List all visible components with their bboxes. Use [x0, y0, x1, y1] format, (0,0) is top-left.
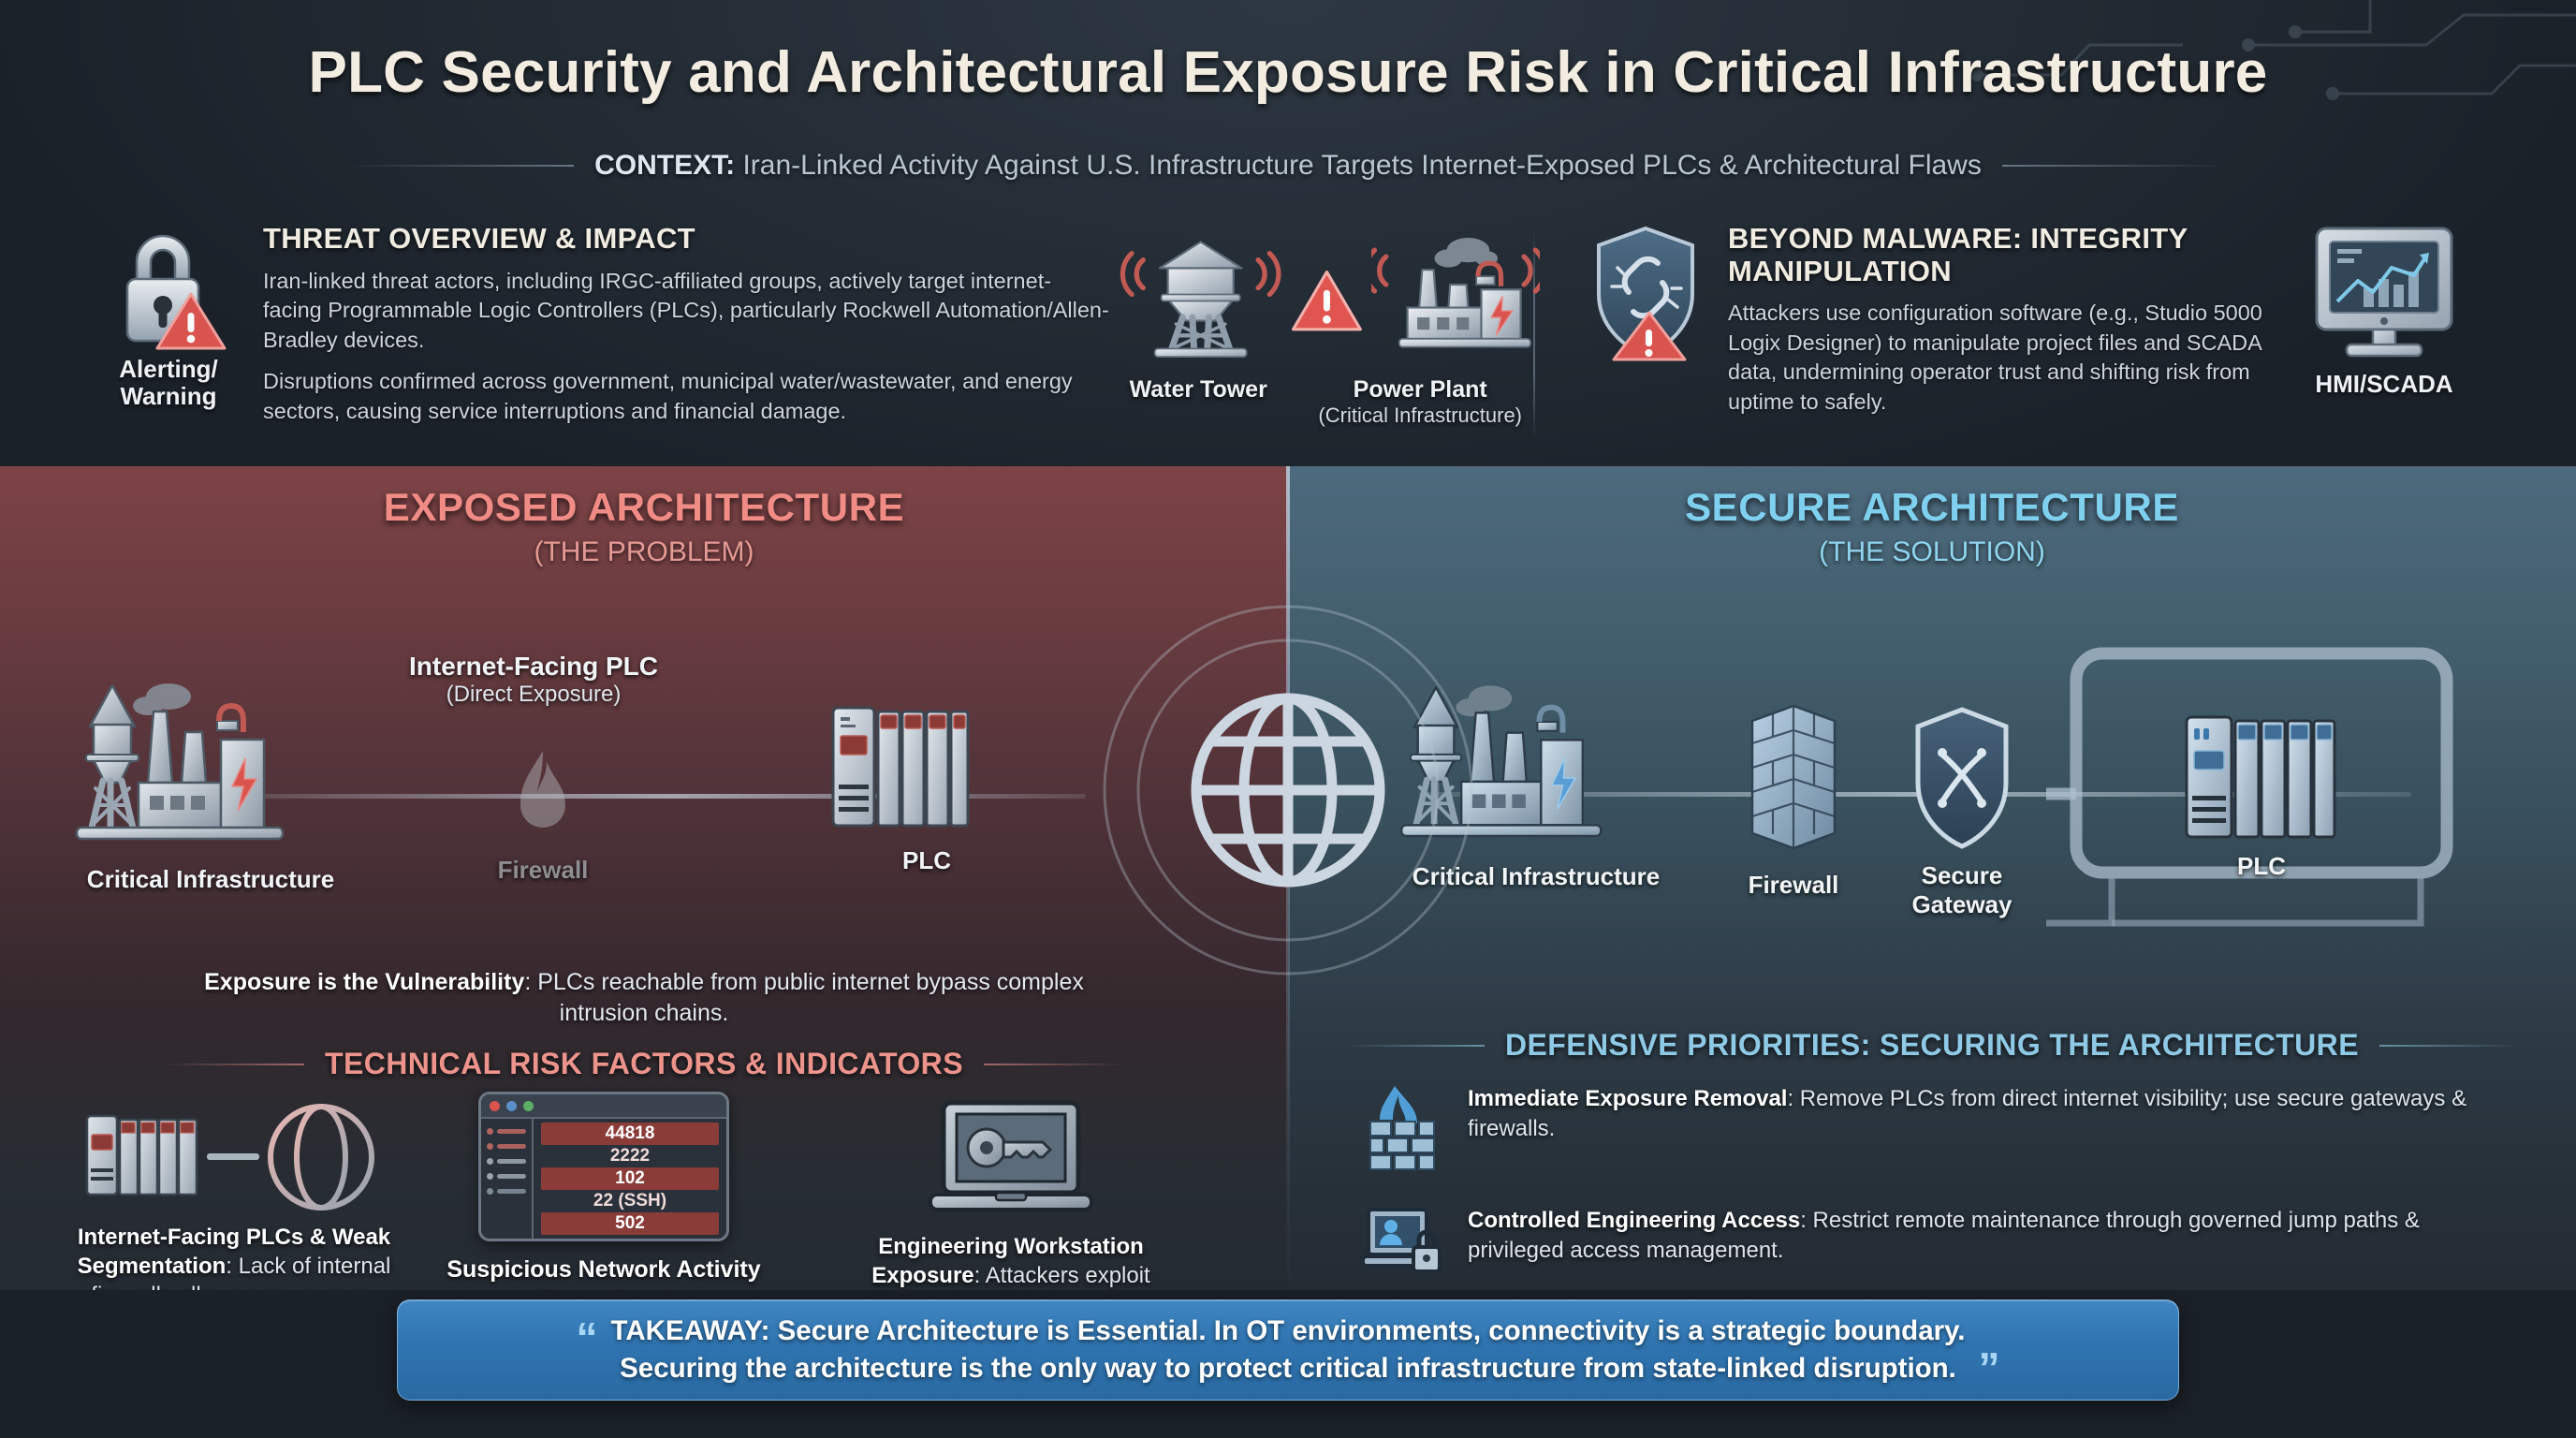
secure-panel-subtitle: (THE SOLUTION)	[1288, 536, 2576, 568]
defensive-rule-left	[1344, 1045, 1485, 1047]
infographic-canvas: PLC Security and Architectural Exposure …	[0, 0, 2576, 1438]
exposed-infra-label: Critical Infrastructure	[56, 865, 365, 894]
secure-firewall-label: Firewall	[1700, 871, 1887, 900]
exposed-node-critical-infrastructure: Critical Infrastructure	[56, 672, 365, 894]
priority-2-bold: Controlled Engineering Access	[1468, 1208, 1800, 1233]
power-plant-label-text: Power Plant	[1354, 376, 1487, 403]
context-row: CONTEXT: Iran-Linked Activity Against U.…	[0, 150, 2576, 182]
terminal-sidebar	[481, 1119, 534, 1239]
secure-node-firewall: Firewall	[1700, 693, 1887, 900]
context-body: Iran-Linked Activity Against U.S. Infras…	[735, 150, 1982, 181]
takeaway-text: TAKEAWAY: Secure Architecture is Essenti…	[611, 1313, 1966, 1387]
header-section: PLC Security and Architectural Exposure …	[0, 0, 2576, 468]
port-row: 44818	[541, 1123, 719, 1145]
padlock-warning-icon	[109, 223, 228, 352]
defensive-priorities-heading: DEFENSIVE PRIORITIES: SECURING THE ARCHI…	[1288, 1028, 2576, 1063]
internet-globe-icon	[1091, 594, 1485, 987]
risk-card-ports-caption: Suspicious Network Activity (Target Port…	[426, 1255, 782, 1290]
context-rule-left	[349, 165, 574, 167]
internet-facing-plc-label: Internet-Facing PLC (Direct Exposure)	[393, 652, 674, 708]
laptop-user-lock-icon	[1363, 1206, 1445, 1284]
plc-rack-icon	[2177, 708, 2346, 848]
integrity-manipulation-block: BEYOND MALWARE: INTEGRITY MANIPULATION A…	[1591, 223, 2490, 429]
terminal-port-list: 44818 2222 102 22 (SSH) 502	[534, 1119, 726, 1239]
shield-icon-block	[1591, 223, 1704, 363]
power-plant-signal-icon	[1371, 223, 1540, 373]
priority-controlled-engineering-access: Controlled Engineering Access: Restrict …	[1363, 1206, 2505, 1284]
port-row: 102	[541, 1167, 719, 1190]
exposed-panel-title: EXPOSED ARCHITECTURE	[0, 485, 1288, 530]
port-row: 22 (SSH)	[541, 1190, 719, 1212]
risk-card-engineering-caption: Engineering Workstation Exposure: Attack…	[824, 1232, 1198, 1290]
exposed-node-firewall: Firewall	[459, 747, 627, 885]
port-row: 2222	[541, 1145, 719, 1167]
exposed-node-plc: PLC	[824, 691, 1030, 875]
power-plant-label: Power Plant (Critical Infrastructure)	[1300, 376, 1540, 428]
risk-card-ports-rest: (Target Ports)	[533, 1287, 674, 1291]
risk-card-ports: 44818 2222 102 22 (SSH) 502 Suspicious N…	[426, 1092, 782, 1290]
context-rule-right	[2002, 165, 2227, 167]
exposed-panel-subtitle: (THE PROBLEM)	[0, 536, 1288, 568]
internet-facing-plc-line1: Internet-Facing PLC	[393, 652, 674, 682]
water-tower-signal-icon	[1119, 223, 1282, 373]
secure-panel-title: SECURE ARCHITECTURE	[1288, 485, 2576, 530]
context-text: CONTEXT: Iran-Linked Activity Against U.…	[594, 150, 1982, 182]
takeaway-line-1: TAKEAWAY: Secure Architecture is Essenti…	[611, 1315, 1966, 1346]
takeaway-line-2: Securing the architecture is the only wa…	[620, 1353, 1956, 1384]
alerting-caption-line1: Alerting/	[119, 355, 217, 383]
internet-facing-plc-line2: (Direct Exposure)	[393, 682, 674, 708]
terminal-maximize-dot[interactable]	[523, 1101, 534, 1111]
context-label: CONTEXT:	[594, 150, 735, 181]
takeaway-banner: “ TAKEAWAY: Secure Architecture is Essen…	[397, 1299, 2179, 1401]
terminal-ports-icon: 44818 2222 102 22 (SSH) 502	[478, 1092, 729, 1241]
hmi-scada-block: HMI/SCADA	[2295, 223, 2473, 398]
threat-overview-paragraph-2: Disruptions confirmed across government,…	[263, 367, 1109, 426]
secure-node-plc: PLC	[2149, 708, 2374, 881]
technical-risk-section-heading: TECHNICAL RISK FACTORS & INDICATORS	[0, 1047, 1288, 1081]
priority-2-text: Controlled Engineering Access: Restrict …	[1468, 1206, 2505, 1266]
flame-firewall-icon	[505, 747, 580, 850]
water-tower-label: Water Tower	[1119, 376, 1278, 428]
integrity-heading: BEYOND MALWARE: INTEGRITY MANIPULATION	[1728, 223, 2271, 287]
laptop-key-icon	[917, 1095, 1105, 1223]
integrity-heading-line2: MANIPULATION	[1728, 255, 1952, 287]
defensive-heading-text: DEFENSIVE PRIORITIES: SECURING THE ARCHI…	[1505, 1028, 2359, 1063]
power-plant-sublabel: (Critical Infrastructure)	[1300, 404, 1540, 428]
threat-overview-block: Alerting/ Warning THREAT OVERVIEW & IMPA…	[98, 223, 1109, 438]
warning-triangle-icon	[1290, 262, 1364, 341]
plc-globe-icon	[80, 1103, 388, 1215]
secure-gateway-label-line1: Secure	[1922, 861, 2003, 889]
hmi-scada-label: HMI/SCADA	[2295, 371, 2473, 398]
defensive-rule-right	[2379, 1045, 2520, 1047]
alerting-warning-block: Alerting/ Warning	[98, 223, 239, 410]
secure-gateway-shield-icon	[1910, 704, 2013, 852]
risk-rule-right	[984, 1064, 1124, 1065]
exposure-callout-bold: Exposure is the Vulnerability	[204, 969, 524, 995]
secure-gateway-label: Secure Gateway	[1868, 861, 2056, 919]
secure-plc-label: PLC	[2149, 852, 2374, 881]
secure-node-gateway: Secure Gateway	[1868, 704, 2056, 919]
plc-rack-icon	[824, 691, 973, 841]
integrity-heading-line1: BEYOND MALWARE: INTEGRITY	[1728, 222, 2188, 255]
threat-overview-paragraph-1: Iran-linked threat actors, including IRG…	[263, 267, 1109, 355]
page-title: PLC Security and Architectural Exposure …	[0, 39, 2576, 106]
priority-immediate-exposure-removal: Immediate Exposure Removal: Remove PLCs …	[1363, 1084, 2505, 1170]
critical-infrastructure-icons: Water Tower Power Plant (Critical Infras…	[1119, 223, 1540, 428]
risk-card-segmentation: Internet-Facing PLCs & Weak Segmentation…	[75, 1103, 393, 1290]
exposed-plc-label: PLC	[824, 846, 1030, 875]
exposed-firewall-label: Firewall	[459, 856, 627, 885]
secure-gateway-label-line2: Gateway	[1912, 890, 2012, 918]
shield-broken-link-warning-icon	[1591, 223, 1704, 363]
priority-1-bold: Immediate Exposure Removal	[1468, 1086, 1787, 1111]
risk-heading-text: TECHNICAL RISK FACTORS & INDICATORS	[325, 1047, 963, 1081]
risk-rule-left	[164, 1064, 304, 1065]
risk-card-segmentation-caption: Internet-Facing PLCs & Weak Segmentation…	[75, 1223, 393, 1290]
architecture-comparison: EXPOSED ARCHITECTURE (THE PROBLEM) Inter…	[0, 466, 2576, 1290]
threat-overview-heading: THREAT OVERVIEW & IMPACT	[263, 223, 1109, 256]
alerting-caption: Alerting/ Warning	[98, 356, 239, 410]
risk-card-engineering-workstation: Engineering Workstation Exposure: Attack…	[824, 1095, 1198, 1290]
critical-infrastructure-icon	[56, 672, 346, 859]
terminal-close-dot[interactable]	[490, 1101, 500, 1111]
priority-1-text: Immediate Exposure Removal: Remove PLCs …	[1468, 1084, 2505, 1144]
exposure-callout-rest: : PLCs reachable from public internet by…	[524, 969, 1084, 1026]
firewall-flame-icon	[1363, 1084, 1445, 1170]
brick-firewall-icon	[1739, 693, 1848, 861]
hmi-scada-monitor-icon	[2305, 223, 2463, 363]
port-row: 502	[541, 1212, 719, 1235]
risk-card-ports-bold: Suspicious Network Activity	[446, 1256, 760, 1283]
terminal-minimize-dot[interactable]	[506, 1101, 517, 1111]
alerting-caption-line2: Warning	[120, 382, 216, 410]
terminal-titlebar	[481, 1094, 726, 1119]
integrity-paragraph: Attackers use configuration software (e.…	[1728, 299, 2271, 417]
